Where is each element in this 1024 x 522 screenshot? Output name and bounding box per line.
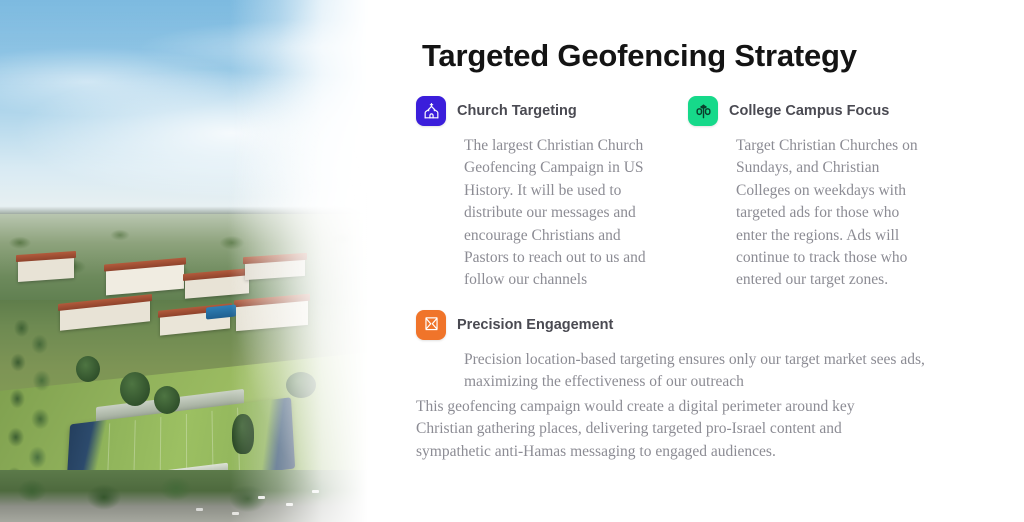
page-title: Targeted Geofencing Strategy	[422, 38, 857, 74]
card-header: Church Targeting	[416, 96, 674, 126]
slide-root: Targeted Geofencing Strategy	[0, 0, 1024, 522]
card-title: College Campus Focus	[729, 103, 889, 119]
swimming-pool	[206, 304, 236, 319]
building	[236, 299, 308, 331]
car	[232, 512, 239, 515]
car	[286, 503, 293, 506]
sky	[0, 0, 400, 215]
campus-photo-panel	[0, 0, 400, 522]
car	[312, 490, 319, 493]
feature-cards: Church Targeting The largest Christian C…	[416, 96, 1016, 394]
tree-clump	[286, 372, 316, 398]
church-icon	[416, 96, 446, 126]
building	[106, 263, 184, 296]
card-precision-engagement[interactable]: Precision Engagement Precision location-…	[416, 310, 946, 394]
road-band	[0, 470, 400, 522]
building	[60, 299, 150, 330]
precision-target-icon	[416, 310, 446, 340]
roof	[183, 268, 251, 281]
content-panel: Targeted Geofencing Strategy	[400, 0, 1024, 522]
building	[18, 256, 74, 282]
roof	[16, 251, 76, 262]
card-title: Church Targeting	[457, 103, 577, 119]
tree-clump	[76, 356, 100, 382]
tree-clump	[232, 414, 254, 454]
roof	[234, 294, 310, 308]
summary-paragraph: This geofencing campaign would create a …	[416, 396, 886, 463]
card-church-targeting[interactable]: Church Targeting The largest Christian C…	[416, 96, 674, 292]
college-building-icon	[688, 96, 718, 126]
building	[185, 273, 249, 299]
tree-clump	[120, 372, 150, 406]
card-body: Precision location-based targeting ensur…	[464, 349, 934, 394]
roof	[104, 257, 186, 271]
card-college-campus-focus[interactable]: College Campus Focus Target Christian Ch…	[688, 96, 946, 292]
card-row-one: Church Targeting The largest Christian C…	[416, 96, 1016, 292]
car	[258, 496, 265, 499]
card-body: The largest Christian Church Geofencing …	[464, 135, 660, 292]
aerial-campus-photo	[0, 0, 400, 522]
car	[196, 508, 203, 511]
roof	[243, 253, 307, 264]
building	[245, 258, 305, 280]
tree-clump	[154, 386, 180, 414]
roof	[58, 294, 152, 311]
card-title: Precision Engagement	[457, 317, 613, 333]
card-header: Precision Engagement	[416, 310, 946, 340]
card-body: Target Christian Churches on Sundays, an…	[736, 135, 932, 292]
card-header: College Campus Focus	[688, 96, 946, 126]
card-row-two: Precision Engagement Precision location-…	[416, 310, 1016, 394]
